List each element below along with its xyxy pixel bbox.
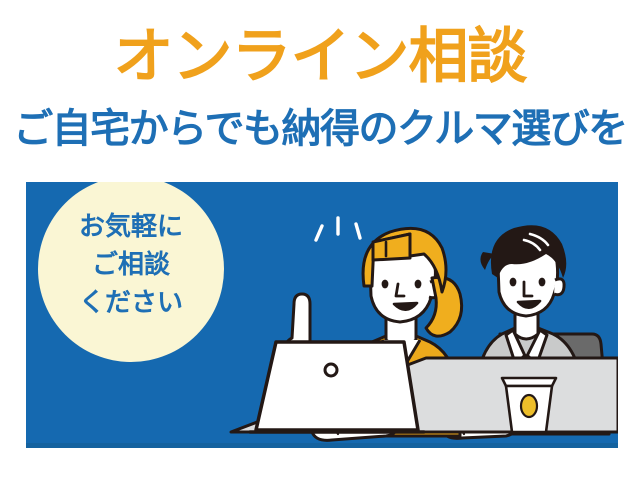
sparkle-icon: [316, 218, 360, 240]
badge-line-3: ください: [38, 284, 224, 322]
headline-block: オンライン相談 ご自宅からでも納得のクルマ選びを: [0, 0, 640, 172]
badge-line-1: お気軽に: [38, 208, 224, 246]
coffee-cup: [502, 378, 556, 432]
badge-line-2: ご相談: [38, 246, 224, 284]
panel-bottom-shade: [26, 443, 618, 448]
page-title: オンライン相談: [0, 22, 640, 92]
illustration-panel: お気軽に ご相談 ください: [26, 182, 618, 448]
online-consultation-banner: オンライン相談 ご自宅からでも納得のクルマ選びを: [0, 0, 640, 480]
callout-badge-text: お気軽に ご相談 ください: [38, 208, 224, 322]
laptop: [250, 342, 424, 432]
page-subtitle: ご自宅からでも納得のクルマ選びを: [0, 104, 640, 154]
